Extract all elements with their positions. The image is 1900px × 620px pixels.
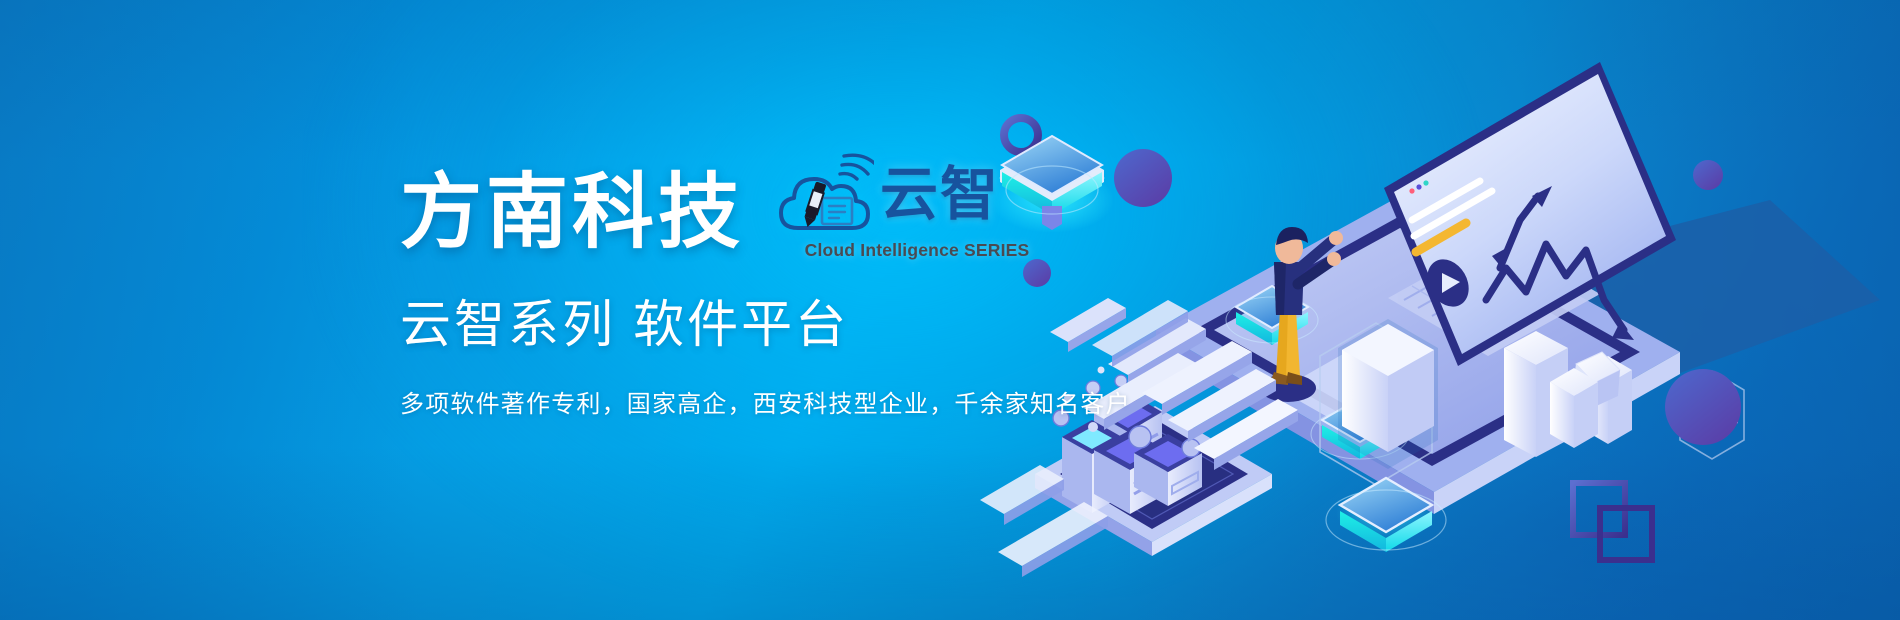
page-description: 多项软件著作专利，国家高企，西安科技型企业，千余家知名客户 <box>400 389 1200 420</box>
cloud-intelligence-logo: 云智 Cloud Intelligence SERIES <box>778 152 1056 261</box>
logo-brand-word: 云智 <box>880 166 1000 224</box>
document-icon <box>822 198 852 224</box>
page-title: 方南科技 <box>400 172 744 254</box>
hero-copy: 方南科技 <box>400 146 1200 420</box>
wifi-waves-icon <box>840 155 874 179</box>
hero-banner: 方南科技 <box>0 0 1900 620</box>
cloud-pen-document-wifi-icon <box>778 152 874 238</box>
overlapping-squares-outline <box>1573 483 1652 560</box>
purple-sphere-top-right <box>1693 160 1723 190</box>
title-row: 方南科技 <box>400 146 1200 261</box>
logo-top-row: 云智 <box>778 152 1056 238</box>
logo-tagline: Cloud Intelligence SERIES <box>778 240 1056 261</box>
purple-sphere-large <box>1665 369 1741 445</box>
page-subtitle: 云智系列 软件平台 <box>400 297 1200 353</box>
